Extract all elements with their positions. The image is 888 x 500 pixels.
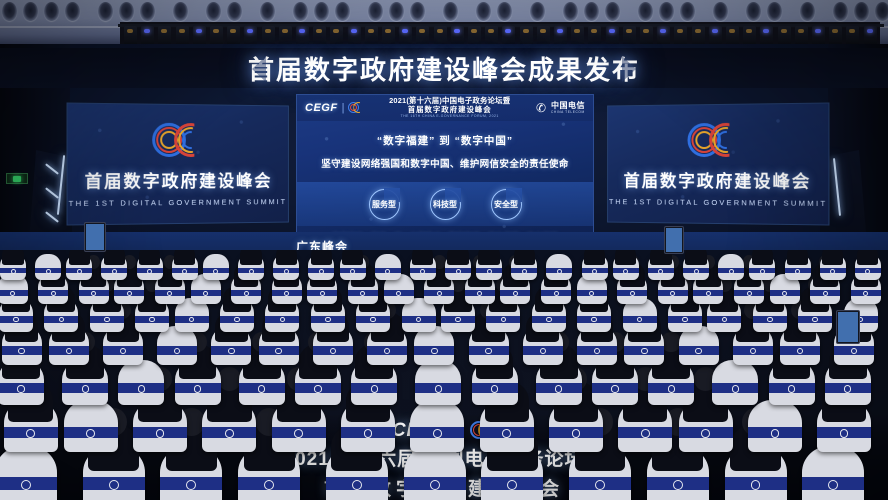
audience-chair <box>404 446 466 500</box>
chair-buckle <box>760 269 765 274</box>
audience-chair <box>546 254 572 280</box>
led-panel-right: 首届数字政府建设峰会 THE 1ST DIGITAL GOVERNMENT SU… <box>607 102 829 225</box>
chair-buckle <box>771 429 780 438</box>
slide-badge-label: 服务型 <box>372 199 396 210</box>
chair-buckle <box>203 291 208 296</box>
ceiling-vent <box>140 2 155 21</box>
logo-divider: | <box>342 102 345 114</box>
chair-buckle <box>91 291 96 296</box>
dg-logo-icon <box>150 121 211 161</box>
audience-person <box>2 250 23 265</box>
chair-buckle <box>611 385 618 392</box>
chair-buckle <box>844 385 851 392</box>
ceiling-vent <box>260 2 275 21</box>
audience-person <box>514 250 535 265</box>
chair-buckle <box>249 269 254 274</box>
dg-logo-icon <box>685 121 746 161</box>
chair-buckle <box>729 269 734 274</box>
ceiling-vent <box>44 2 59 21</box>
ceiling-vent <box>227 2 242 21</box>
chair-buckle <box>186 480 196 490</box>
ceiling-vent <box>833 2 848 21</box>
ceiling-vent <box>767 2 782 21</box>
ceiling-vent <box>713 2 728 21</box>
china-telecom-icon: ✆ <box>536 102 548 114</box>
chair-buckle <box>641 429 650 438</box>
led-panel-left-title: 首届数字政府建设峰会 <box>85 167 273 193</box>
chair-buckle <box>51 291 56 296</box>
ceiling-vent <box>443 2 458 21</box>
audience-chair <box>375 254 401 280</box>
phone-screen <box>666 228 682 252</box>
headline-banner: 首届数字政府建设峰会成果发布 <box>0 48 888 88</box>
chair-buckle <box>294 429 303 438</box>
ceiling-vent <box>605 2 620 21</box>
exit-sign-icon <box>6 173 28 184</box>
audience-person <box>685 250 706 265</box>
chair-buckle <box>26 429 35 438</box>
audience-person <box>752 250 773 265</box>
audience-person <box>584 250 605 265</box>
ceiling-vent <box>2 2 17 21</box>
chair-buckle <box>46 269 51 274</box>
chair-buckle <box>21 480 31 490</box>
phone-screen <box>86 224 104 250</box>
led-panel-left-subtitle: THE 1ST DIGITAL GOVERNMENT SUMMIT <box>69 197 288 208</box>
chair-buckle <box>502 429 511 438</box>
chair-buckle <box>694 269 699 274</box>
slide-body: “数字福建” 到 “数字中国” 坚守建设网络强国和数字中国、维护网信安全的责任使… <box>297 121 593 242</box>
audience-person <box>104 250 125 265</box>
chair-buckle <box>557 269 562 274</box>
chair-buckle <box>396 291 401 296</box>
chair-buckle <box>225 429 234 438</box>
chair-buckle <box>641 348 647 354</box>
slide-header-title-en: THE 16TH CHINA E-GOVERNANCE FORUM, 2021 <box>389 115 510 119</box>
chevron-right-icon <box>622 56 636 82</box>
ceiling-vent <box>293 2 308 21</box>
ceiling-vent <box>530 2 545 21</box>
chair-buckle <box>782 291 787 296</box>
chair-buckle <box>630 291 635 296</box>
audience-chair <box>118 360 164 405</box>
ceiling-vent <box>119 2 134 21</box>
ceiling-vent <box>800 2 815 21</box>
chair-buckle <box>437 291 442 296</box>
chair-buckle <box>350 269 355 274</box>
chair-buckle <box>788 385 795 392</box>
slide-badge: 服务型 <box>369 189 400 220</box>
ceiling-vent <box>497 2 512 21</box>
slide-subheading: 坚守建设网络强国和数字中国、维护网信安全的责任使命 <box>297 156 593 170</box>
ceiling-vent <box>854 2 869 21</box>
audience-person <box>311 250 332 265</box>
slide-badge: 科技型 <box>430 189 461 220</box>
chair-buckle <box>104 317 109 322</box>
chair-buckle <box>491 385 498 392</box>
chair-buckle <box>385 269 390 274</box>
chair-buckle <box>572 429 581 438</box>
chair-buckle <box>433 429 442 438</box>
chair-buckle <box>668 385 675 392</box>
chair-buckle <box>623 269 628 274</box>
chair-buckle <box>487 269 492 274</box>
chair-buckle <box>77 269 82 274</box>
chair-buckle <box>828 480 838 490</box>
ceiling-vent <box>659 2 674 21</box>
ceiling-vent <box>173 2 188 21</box>
slide-header-title-line2: 首届数字政府建设峰会 <box>389 106 510 115</box>
chair-buckle <box>138 385 145 392</box>
chair-buckle <box>112 269 117 274</box>
audience-chair <box>0 446 57 500</box>
slide-header-title: 2021(第十六届)中国电子政务论坛暨 首届数字政府建设峰会 THE 16TH … <box>389 97 510 119</box>
chair-buckle <box>507 480 517 490</box>
chair-buckle <box>554 291 559 296</box>
chair-buckle <box>830 269 835 274</box>
headline-text: 首届数字政府建设峰会成果发布 <box>248 50 640 87</box>
chair-buckle <box>244 291 249 296</box>
chair-buckle <box>258 385 265 392</box>
audience-person <box>69 250 90 265</box>
ceiling-vent <box>563 2 578 21</box>
led-panel-left: 首届数字政府建设峰会 THE 1ST DIGITAL GOVERNMENT SU… <box>67 102 289 225</box>
slide-badge: 安全型 <box>491 189 522 220</box>
slide-header: CEGF | 2021(第十六届)中国电子政务论坛暨 首届数字政府建设峰会 TH… <box>297 95 593 121</box>
chair-buckle <box>430 480 440 490</box>
chair-buckle <box>456 269 461 274</box>
audience-person <box>857 250 878 265</box>
center-presentation-screen: CEGF | 2021(第十六届)中国电子政务论坛暨 首届数字政府建设峰会 TH… <box>296 94 594 242</box>
chair-buckle <box>522 269 527 274</box>
chair-buckle <box>767 317 772 322</box>
chair-buckle <box>86 429 95 438</box>
chair-buckle <box>435 385 442 392</box>
attendee-phone <box>836 310 860 344</box>
audience-chair <box>415 360 461 405</box>
audience-person <box>174 250 195 265</box>
chair-buckle <box>673 480 683 490</box>
chair-buckle <box>546 317 551 322</box>
attendee-phone <box>84 222 106 252</box>
chair-buckle <box>751 480 761 490</box>
ceiling-vent-row <box>0 2 888 24</box>
audience-person <box>412 250 433 265</box>
chevron-left-icon <box>252 56 266 82</box>
chair-buckle <box>11 269 16 274</box>
conference-hall-photo: 首届数字政府建设峰会成果发布 首届数字政府建设峰会 THE 1ST DIGITA… <box>0 0 888 500</box>
ceiling-vent <box>584 2 599 21</box>
chair-buckle <box>747 291 752 296</box>
ceiling-vent <box>746 2 761 21</box>
audience-area <box>0 250 888 500</box>
chair-buckle <box>595 480 605 490</box>
audience-person <box>276 250 297 265</box>
attendee-phone <box>664 226 684 254</box>
chair-buckle <box>555 385 562 392</box>
chair-buckle <box>485 348 491 354</box>
audience-chair <box>748 400 802 452</box>
audience-chair <box>64 400 118 452</box>
audience-chair <box>410 400 464 452</box>
audience-person <box>139 250 160 265</box>
audience-person <box>478 250 499 265</box>
chair-buckle <box>371 385 378 392</box>
audience-person <box>240 250 261 265</box>
chair-buckle <box>10 291 15 296</box>
slide-badge-label: 安全型 <box>494 199 518 210</box>
chair-buckle <box>284 269 289 274</box>
audience-person <box>787 250 808 265</box>
chair-buckle <box>82 385 89 392</box>
ceiling-vent <box>23 2 38 21</box>
chair-buckle <box>319 269 324 274</box>
slide-heading: “数字福建” 到 “数字中国” <box>297 133 593 148</box>
audience-chair <box>718 254 744 280</box>
chair-buckle <box>325 317 330 322</box>
audience-chair <box>802 446 864 500</box>
ceiling-vent <box>476 2 491 21</box>
chair-buckle <box>109 480 119 490</box>
chair-buckle <box>706 291 711 296</box>
ceiling-vent <box>638 2 653 21</box>
phone-screen <box>838 312 858 342</box>
chair-buckle <box>695 348 701 354</box>
ceiling-vent <box>410 2 425 21</box>
chair-buckle <box>320 291 325 296</box>
slide-badge-label: 科技型 <box>433 199 457 210</box>
slide-badge-row: 服务型 科技型 安全型 <box>297 182 593 226</box>
chair-buckle <box>701 429 710 438</box>
ceiling-vent <box>875 2 888 21</box>
chair-buckle <box>314 385 321 392</box>
ceiling-vent <box>98 2 113 21</box>
chair-buckle <box>420 269 425 274</box>
ceiling-vent <box>680 2 695 21</box>
ceiling-vent <box>335 2 350 21</box>
chair-buckle <box>513 291 518 296</box>
audience-head <box>218 367 241 391</box>
ceiling-vent <box>65 2 80 21</box>
sponsor-name-en: CHINA TELECOM <box>551 111 585 114</box>
chair-buckle <box>865 269 870 274</box>
chair-buckle <box>228 348 234 354</box>
chair-buckle <box>18 348 24 354</box>
chair-buckle <box>17 385 24 392</box>
chair-buckle <box>127 291 132 296</box>
audience-person <box>822 250 843 265</box>
chair-buckle <box>264 480 274 490</box>
chair-buckle <box>823 291 828 296</box>
cegf-logo: CEGF <box>305 102 338 114</box>
audience-chair <box>712 360 758 405</box>
chair-buckle <box>352 480 362 490</box>
chair-buckle <box>275 348 281 354</box>
chair-buckle <box>194 385 201 392</box>
dg-logo-icon <box>348 102 363 114</box>
sponsor-logo: ✆ 中国电信 CHINA TELECOM <box>536 102 585 114</box>
audience-chair <box>203 254 229 280</box>
chair-buckle <box>364 429 373 438</box>
audience-person <box>342 250 363 265</box>
chair-buckle <box>182 269 187 274</box>
ceiling-vent <box>389 2 404 21</box>
led-panel-right-title: 首届数字政府建设峰会 <box>624 167 812 193</box>
chair-buckle <box>589 291 594 296</box>
slide-header-logos: CEGF | <box>305 102 363 114</box>
chair-buckle <box>732 385 739 392</box>
chair-buckle <box>66 348 72 354</box>
audience-person <box>615 250 636 265</box>
chair-buckle <box>795 269 800 274</box>
audience-person <box>447 250 468 265</box>
ceiling-vent <box>206 2 221 21</box>
chair-buckle <box>147 269 152 274</box>
audience-chair <box>35 254 61 280</box>
ceiling-vent <box>368 2 383 21</box>
ceiling-vent <box>314 2 329 21</box>
chair-buckle <box>431 348 437 354</box>
chair-buckle <box>156 429 165 438</box>
led-panel-right-subtitle: THE 1ST DIGITAL GOVERNMENT SUMMIT <box>609 197 828 208</box>
chair-buckle <box>592 269 597 274</box>
